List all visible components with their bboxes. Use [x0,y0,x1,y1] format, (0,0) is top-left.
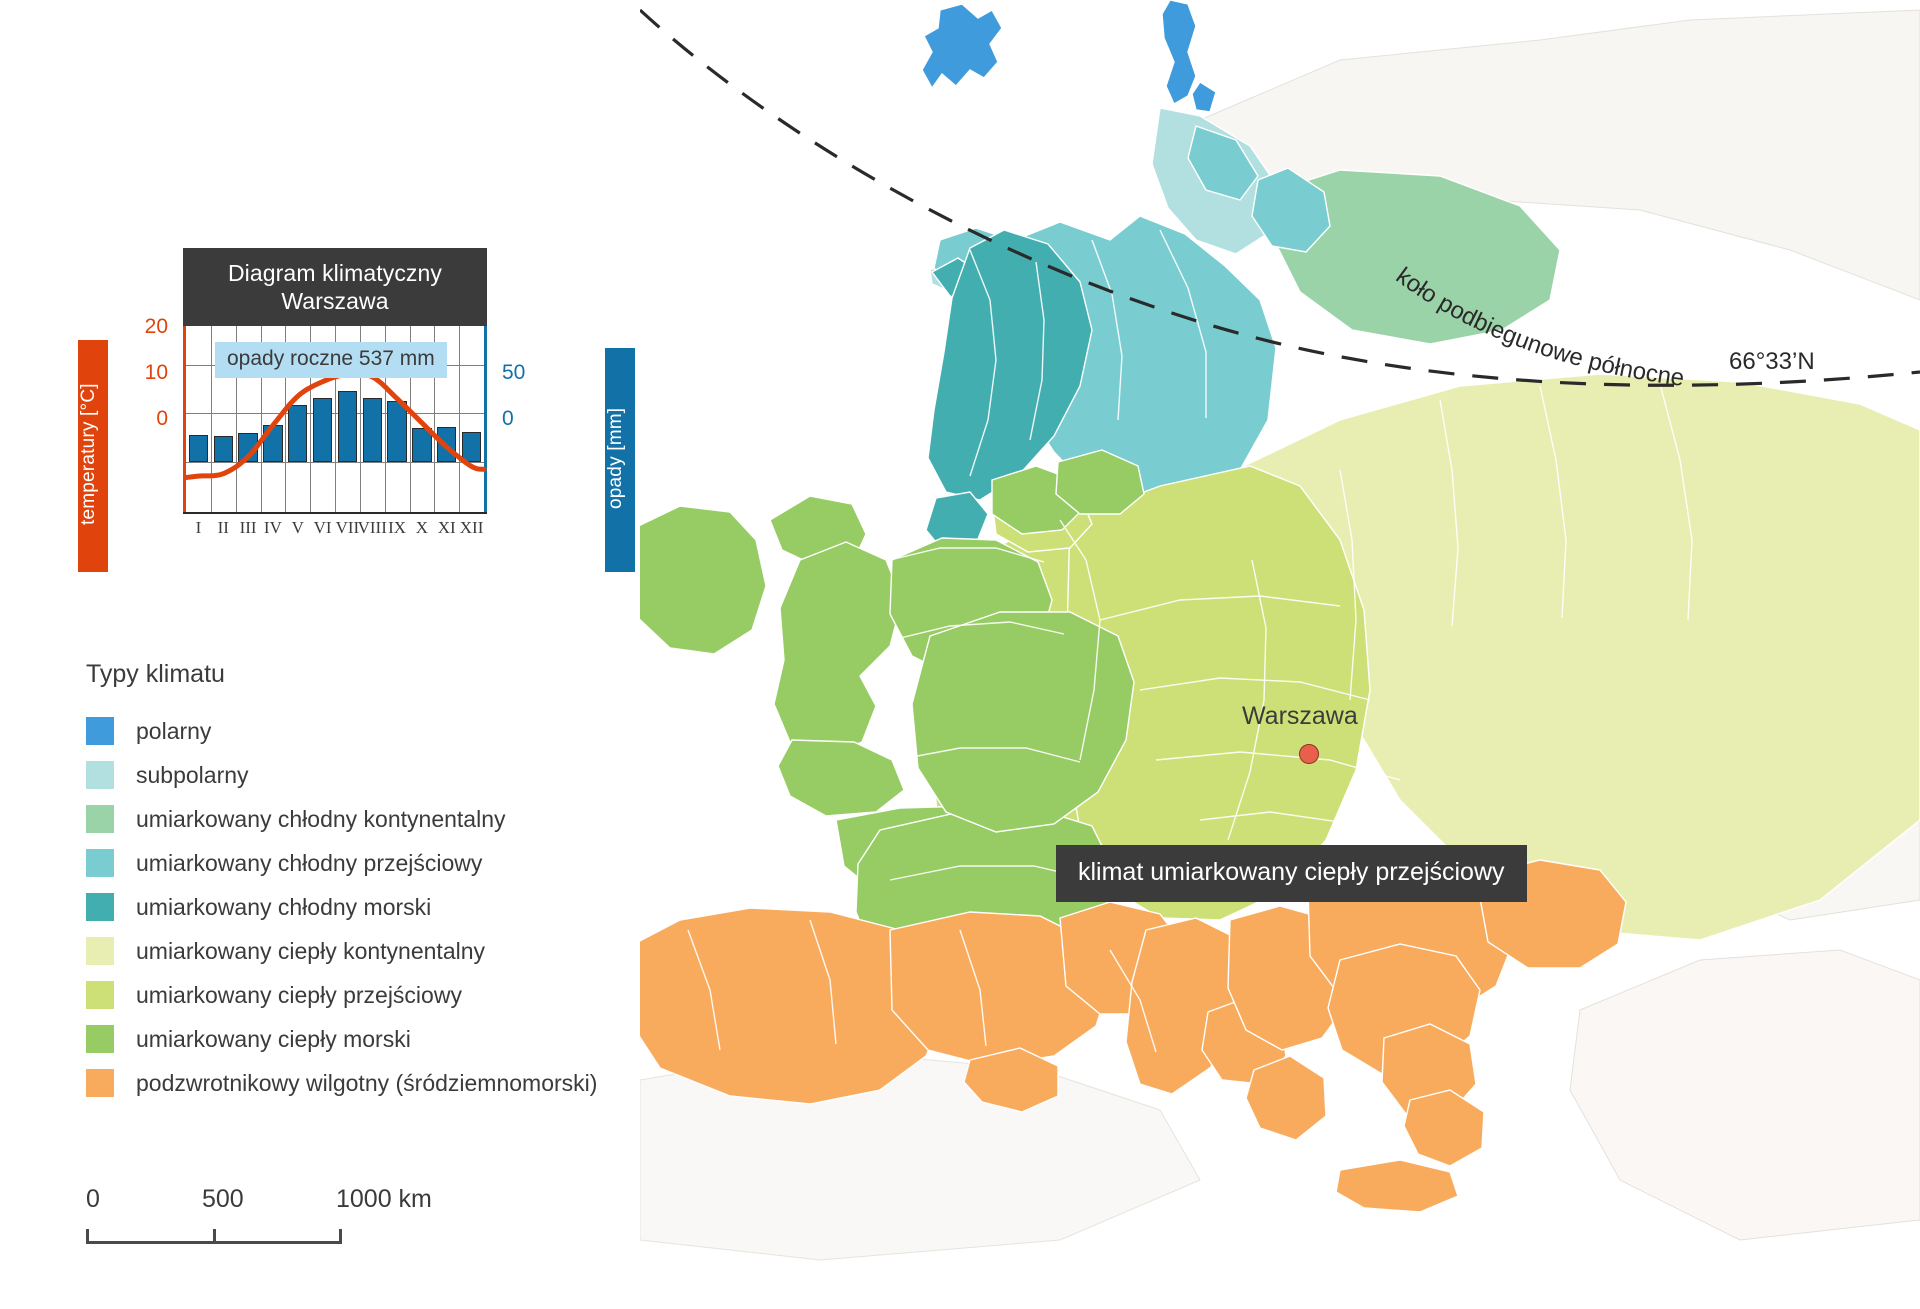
legend-item[interactable]: umiarkowany ciepły przejściowy [86,973,706,1017]
legend-title: Typy klimatu [86,660,706,689]
map-city-marker-warszawa[interactable] [1299,744,1319,764]
month-label: VII [336,518,360,538]
legend-item[interactable]: umiarkowany chłodny morski [86,885,706,929]
scalebar-label-1000: 1000 km [336,1185,432,1214]
legend-item-label: umiarkowany chłodny przejściowy [136,850,482,877]
legend-item[interactable]: umiarkowany ciepły morski [86,1017,706,1061]
scalebar-tick-start [86,1229,89,1244]
annual-precipitation-note: opady roczne 537 mm [215,342,447,378]
map-scalebar: 0 500 1000 km [86,1185,506,1245]
map-climate-banner: klimat umiarkowany ciepły przejściowy [1056,845,1527,902]
europe-climate-map[interactable]: koło podbiegunowe północne 66°33’N [640,0,1920,1309]
precipitation-axis-label: opady [mm] [605,348,635,572]
legend-color-swatch [86,1069,114,1097]
temp-tick-20: 20 [110,315,168,339]
legend-item-label: umiarkowany chłodny kontynentalny [136,806,505,833]
temp-tick-0: 0 [110,407,168,431]
legend-color-swatch [86,937,114,965]
month-axis-labels: IIIIIIIVVVIVIIVIIIIXXXIXII [183,518,487,544]
legend-item[interactable]: subpolarny [86,753,706,797]
scalebar-graphic [86,1223,506,1245]
legend-color-swatch [86,849,114,877]
legend-item[interactable]: umiarkowany chłodny kontynentalny [86,797,706,841]
legend-color-swatch [86,893,114,921]
diagram-title-line1: Diagram klimatyczny [183,259,487,287]
legend-items: polarnysubpolarnyumiarkowany chłodny kon… [86,709,706,1105]
scalebar-label-500: 500 [202,1185,244,1214]
legend-item-label: podzwrotnikowy wilgotny (śródziemnomorsk… [136,1070,597,1097]
legend-item-label: umiarkowany ciepły przejściowy [136,982,462,1009]
temp-tick-10: 10 [110,361,168,385]
climate-types-legend: Typy klimatu polarnysubpolarnyumiarkowan… [86,660,706,1105]
scalebar-tick-middle [213,1229,216,1244]
map-svg [640,0,1920,1309]
month-label: XII [460,518,484,538]
diagram-title-line2: Warszawa [183,287,487,315]
legend-color-swatch [86,981,114,1009]
month-label: III [240,518,257,538]
diagram-x-axis [183,512,487,514]
prec-tick-50: 50 [502,361,562,385]
month-label: I [196,518,202,538]
scalebar-labels: 0 500 1000 km [86,1185,506,1217]
scalebar-tick-end [339,1229,342,1244]
legend-item[interactable]: umiarkowany ciepły kontynentalny [86,929,706,973]
legend-item-label: subpolarny [136,762,249,789]
legend-item-label: umiarkowany chłodny morski [136,894,431,921]
prec-tick-0: 0 [502,407,562,431]
scalebar-label-0: 0 [86,1185,100,1214]
legend-item[interactable]: polarny [86,709,706,753]
month-label: V [292,518,304,538]
arctic-circle-coordinate: 66°33’N [1729,348,1815,376]
map-city-label-warszawa: Warszawa [1242,702,1358,731]
screenshot-root: koło podbiegunowe północne 66°33’N Warsz… [0,0,1920,1309]
legend-item-label: polarny [136,718,211,745]
month-label: II [218,518,229,538]
legend-item-label: umiarkowany ciepły morski [136,1026,411,1053]
legend-color-swatch [86,761,114,789]
legend-color-swatch [86,717,114,745]
legend-color-swatch [86,1025,114,1053]
month-label: VI [314,518,332,538]
month-label: X [416,518,428,538]
legend-item[interactable]: umiarkowany chłodny przejściowy [86,841,706,885]
month-label: IV [264,518,282,538]
legend-item-label: umiarkowany ciepły kontynentalny [136,938,485,965]
climate-diagram-warszawa: Diagram klimatyczny Warszawa temperatury… [60,248,580,628]
legend-color-swatch [86,805,114,833]
legend-item[interactable]: podzwrotnikowy wilgotny (śródziemnomorsk… [86,1061,706,1105]
month-label: VIII [358,518,387,538]
temperature-axis-label: temperatury [°C] [78,340,108,572]
month-label: XI [438,518,456,538]
month-label: IX [388,518,406,538]
diagram-title: Diagram klimatyczny Warszawa [183,248,487,326]
zone-polarny [922,0,1216,112]
